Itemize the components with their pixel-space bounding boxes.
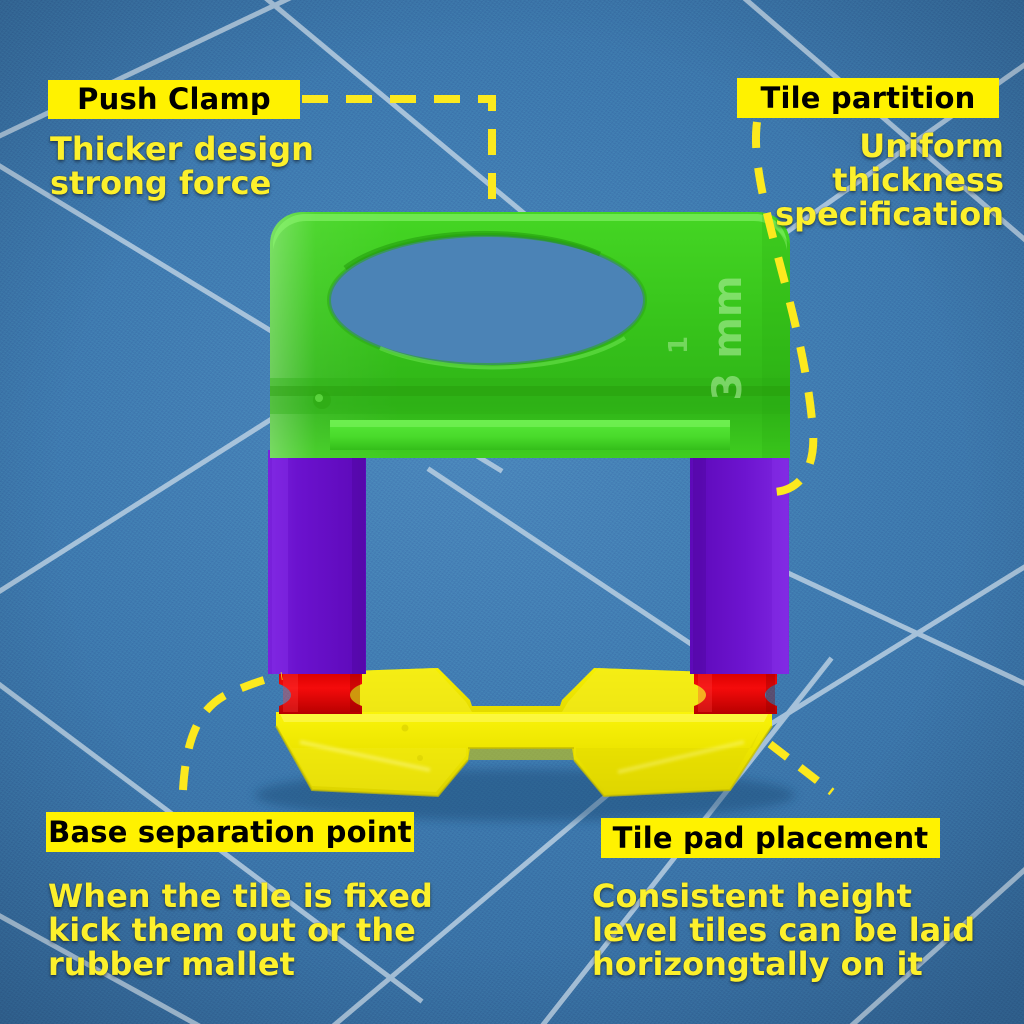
callout-title-tile-partition: Tile partition	[737, 78, 999, 118]
callout-description-tile-partition: Uniform thickness specification	[600, 130, 1004, 232]
embossed-mark: 1	[664, 336, 694, 354]
break-off-collar-left	[279, 672, 362, 714]
infographic-canvas: 3 mm 1 Push Clamp Thicker design s	[0, 0, 1024, 1024]
callout-title-push-clamp: Push Clamp	[48, 80, 300, 119]
callout-description-base-separation: When the tile is fixed kick them out or …	[48, 880, 433, 982]
callout-description-tile-pad: Consistent height level tiles can be lai…	[592, 880, 975, 982]
clip-leg-left	[268, 450, 366, 674]
callout-title-tile-pad-placement: Tile pad placement	[601, 818, 940, 858]
embossed-one-label: 1	[664, 336, 694, 354]
push-clamp-head: 3 mm 1	[270, 212, 790, 458]
embossed-size-text: 3 mm	[705, 275, 751, 400]
embossed-3mm-label: 3 mm	[705, 275, 751, 400]
callout-title-base-separation-point: Base separation point	[46, 812, 414, 852]
break-off-collar-right	[694, 672, 777, 714]
clip-leg-right	[690, 450, 789, 674]
callout-description-push-clamp: Thicker design strong force	[50, 133, 314, 201]
